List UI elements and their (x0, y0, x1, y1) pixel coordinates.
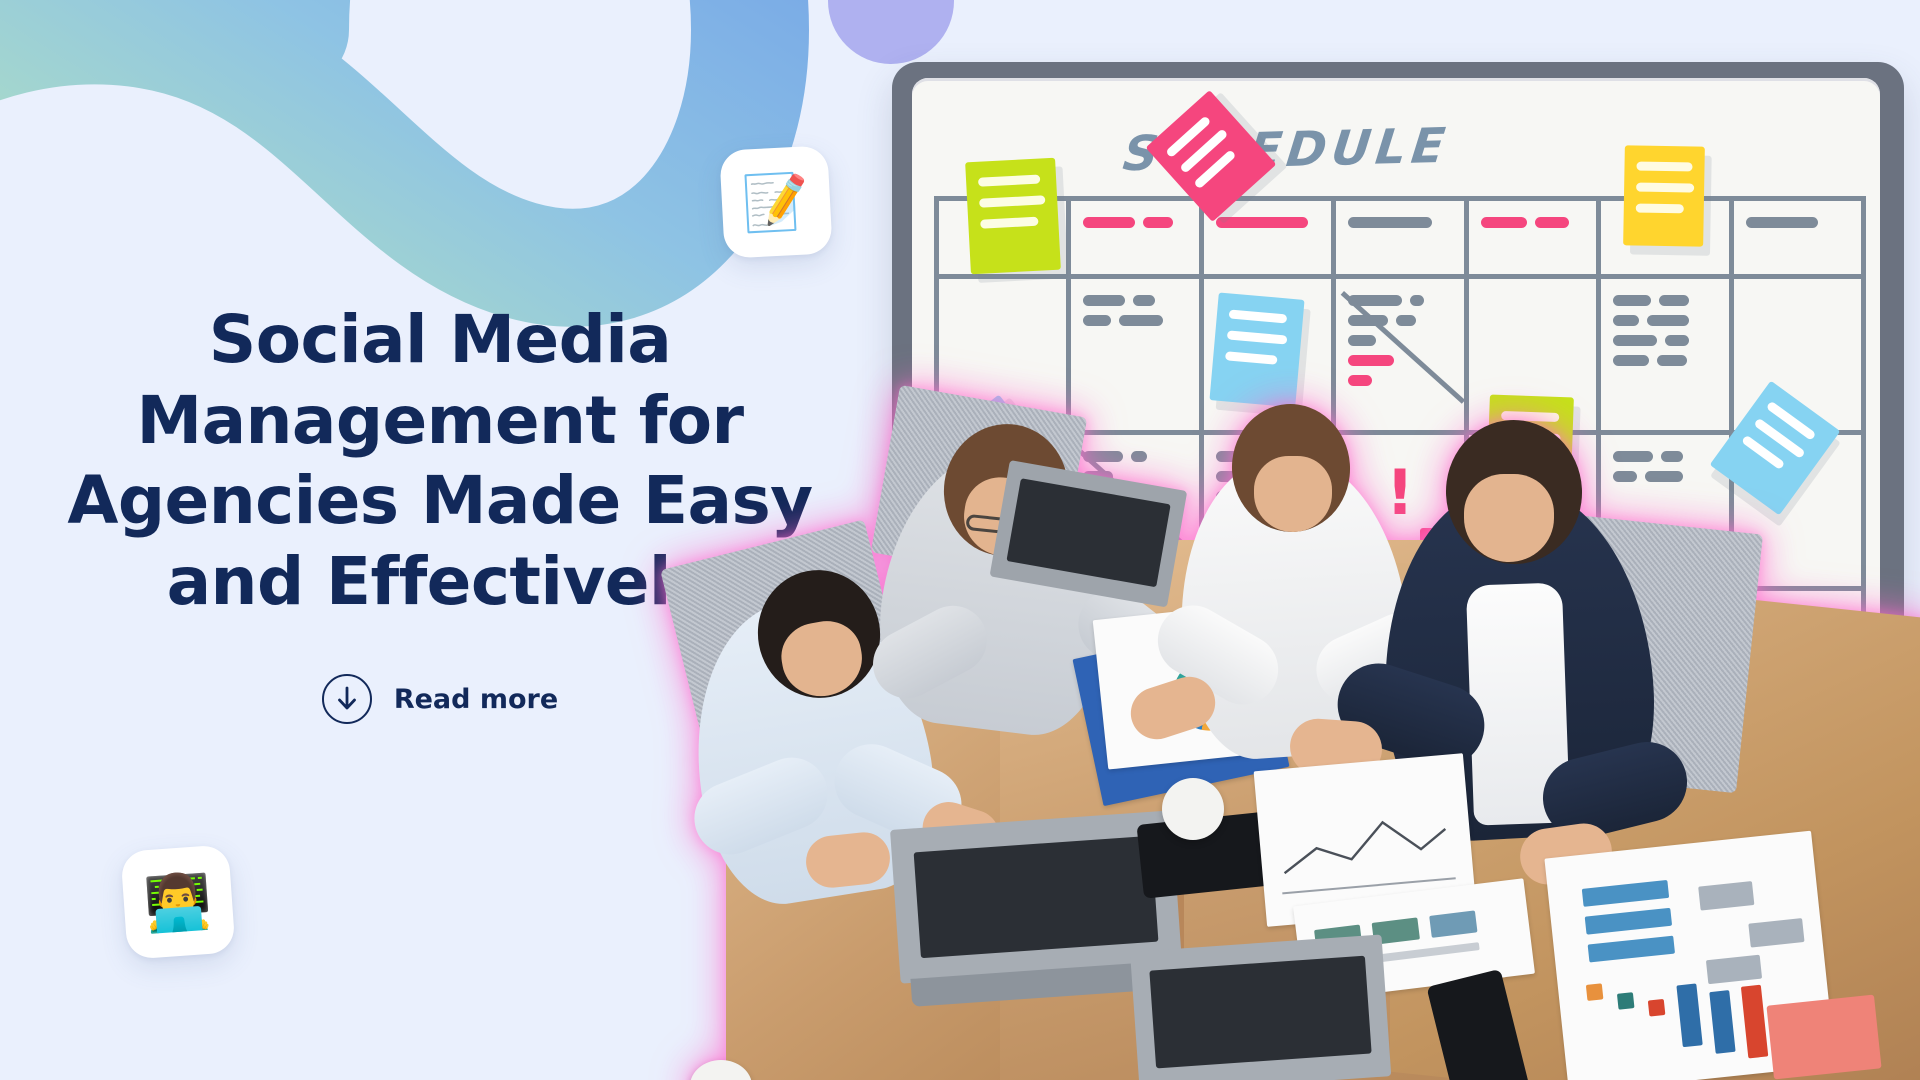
memo-emoji-card: 📝 (719, 145, 833, 259)
schedule-cell (1469, 201, 1601, 279)
title-line-2: Management for (40, 381, 840, 462)
schedule-cell (1601, 279, 1733, 435)
schedule-cell (1734, 201, 1866, 279)
schedule-cell (1336, 279, 1468, 435)
developer-emoji-card: 👨‍💻 (120, 844, 235, 959)
read-more-label: Read more (394, 684, 558, 715)
schedule-cell (1071, 279, 1203, 435)
sticky-note (965, 158, 1061, 275)
face (1254, 456, 1332, 532)
coffee-cup (1162, 778, 1224, 840)
purple-circle-icon (828, 0, 954, 64)
sticky-note (1209, 292, 1304, 407)
schedule-cell (1071, 201, 1203, 279)
face (1464, 474, 1554, 562)
hero-banner: 📝 👨‍💻 Social Media Management for Agenci… (0, 0, 1920, 1080)
memo-icon: 📝 (741, 174, 811, 231)
developer-icon: 👨‍💻 (143, 874, 214, 933)
team-meeting-photo (700, 500, 1920, 1080)
read-more-button[interactable]: Read more (322, 674, 558, 724)
red-notepad (1766, 995, 1881, 1080)
schedule-cell (1204, 201, 1336, 279)
sticky-note (1623, 145, 1705, 246)
cell-strike-line (1341, 291, 1466, 404)
schedule-cell (1336, 201, 1468, 279)
title-line-1: Social Media (40, 300, 840, 381)
arrow-down-circle-icon[interactable] (322, 674, 372, 724)
